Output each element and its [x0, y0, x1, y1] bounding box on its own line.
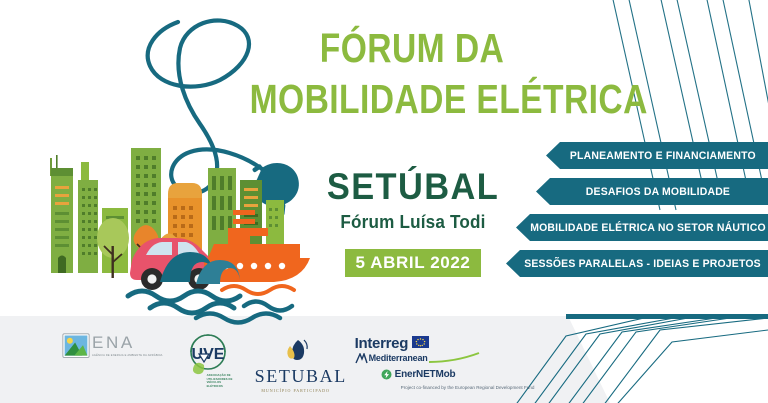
title-line-2: MOBILIDADE ELÉTRICA: [250, 79, 575, 120]
topic-item-desafios[interactable]: DESAFIOS DA MOBILIDADE: [536, 178, 768, 205]
enernetmob-mark-icon: [381, 369, 392, 380]
topic-item-nautico[interactable]: MOBILIDADE ELÉTRICA NO SETOR NÁUTICO: [516, 214, 768, 241]
topic-item-planeamento[interactable]: PLANEAMENTO E FINANCIAMENTO: [546, 142, 768, 169]
setubal-wordmark: SETUBAL: [255, 367, 337, 385]
uve-mark-icon: UVE: [183, 332, 235, 378]
ena-mark-icon: [62, 332, 90, 360]
topic-label: PLANEAMENTO E FINANCIAMENTO: [570, 150, 756, 162]
logo-uve: UVE ASSOCIAÇÃO DE UTILIZADORES DE VEÍCUL…: [181, 332, 237, 388]
title-line-1: FÓRUM DA: [250, 28, 575, 69]
ena-text: ENA AGÊNCIA DE ENERGIA E AMBIENTE DA ARR…: [92, 334, 163, 358]
topic-list: PLANEAMENTO E FINANCIAMENTO DESAFIOS DA …: [478, 142, 768, 286]
interreg-wordmark: Interreg: [355, 336, 408, 351]
enernetmob-row: EnerNETMob: [381, 369, 535, 380]
date-badge: 5 ABRIL 2022: [345, 249, 482, 277]
logo-setubal: SETUBAL MUNICÍPIO PARTICIPADO: [255, 332, 337, 393]
ena-subtitle: AGÊNCIA DE ENERGIA E AMBIENTE DA ARRÁBID…: [92, 354, 163, 358]
eu-flag-icon: [412, 336, 429, 348]
funding-note: Project co-financed by the European Regi…: [401, 385, 535, 392]
ena-wordmark: ENA: [92, 334, 163, 351]
topic-label: SESSÕES PARALELAS - IDEIAS E PROJETOS: [525, 258, 762, 270]
interreg-swoosh-icon: [429, 352, 481, 364]
interreg-programme: Mediterranean: [369, 353, 428, 363]
interreg-top-row: Interreg: [355, 336, 535, 351]
setubal-mark-icon: [274, 338, 318, 362]
interreg-programme-row: Mediterranean: [355, 352, 535, 364]
topic-label: DESAFIOS DA MOBILIDADE: [586, 186, 730, 198]
setubal-subtitle: MUNICÍPIO PARTICIPADO: [255, 388, 337, 393]
logo-interreg: Interreg Mediterranean: [355, 332, 535, 392]
topic-label: MOBILIDADE ELÉTRICA NO SETOR NÁUTICO: [530, 222, 766, 234]
poster-root: FÓRUM DA MOBILIDADE ELÉTRICA SETÚBAL Fór…: [0, 0, 768, 403]
logo-ena: ENA AGÊNCIA DE ENERGIA E AMBIENTE DA ARR…: [62, 332, 163, 360]
sponsor-logo-row: ENA AGÊNCIA DE ENERGIA E AMBIENTE DA ARR…: [0, 318, 620, 403]
enernetmob-wordmark: EnerNETMob: [395, 369, 456, 380]
title-block: FÓRUM DA MOBILIDADE ELÉTRICA: [214, 28, 610, 120]
topic-item-sessoes[interactable]: SESSÕES PARALELAS - IDEIAS E PROJETOS: [506, 250, 768, 277]
mediterranean-mark-icon: [355, 353, 368, 364]
